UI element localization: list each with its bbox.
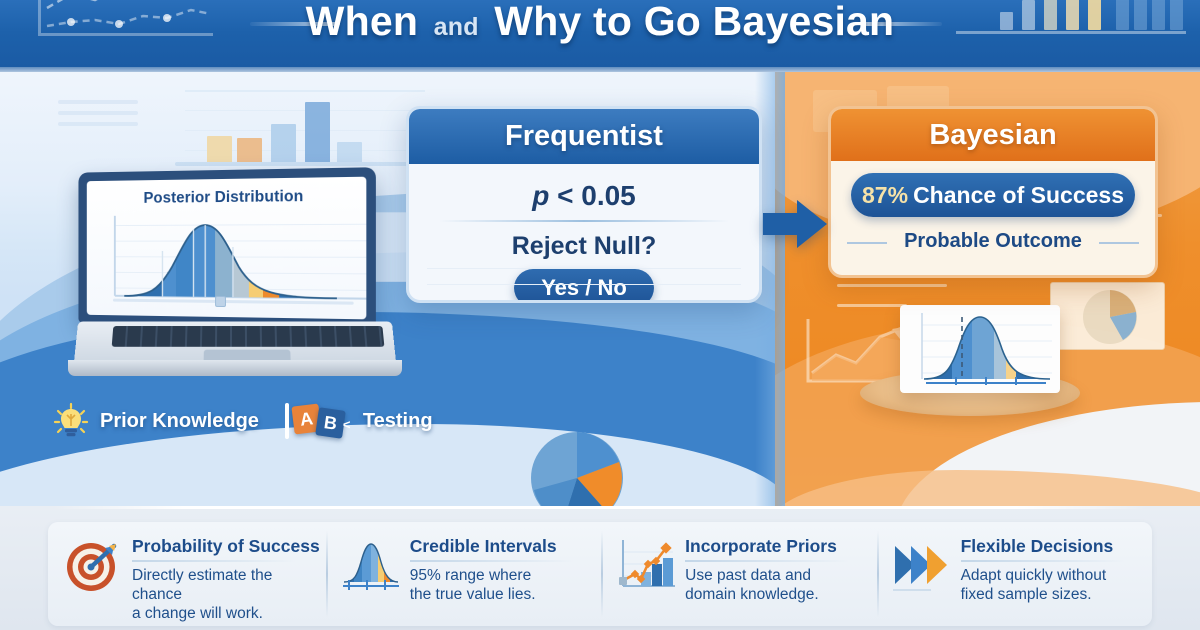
feature-text-4: Flexible Decisions Adapt quickly without… <box>961 532 1126 604</box>
feature-desc-4: Adapt quickly without fixed sample sizes… <box>961 566 1126 604</box>
prior-knowledge-label: Prior Knowledge <box>100 410 259 433</box>
tile-caret: < <box>343 417 351 432</box>
feature-underline-1 <box>132 560 297 562</box>
laptop-base-front <box>68 360 402 376</box>
screen-title: Posterior Distribution <box>87 187 367 208</box>
frequentist-card-body: p < 0.05 Reject Null? Yes / No <box>409 180 759 303</box>
title-conjunction: and <box>430 13 483 41</box>
bayesian-card-header: Bayesian <box>831 109 1155 161</box>
feature-strip: Probability of Success Directly estimate… <box>48 522 1152 626</box>
frequentist-divider <box>439 220 729 222</box>
chart-slider-knob[interactable] <box>215 296 226 307</box>
flow-arrow-right-icon <box>763 196 829 252</box>
feature-underline-4 <box>961 560 1126 562</box>
title-part-1: When <box>306 0 418 44</box>
feature-incorporate-priors[interactable]: Incorporate Priors Use past data and dom… <box>601 522 876 626</box>
feature-title-4: Flexible Decisions <box>961 536 1126 557</box>
feature-probability-of-success[interactable]: Probability of Success Directly estimate… <box>48 522 326 626</box>
probable-outcome-label: Probable Outcome <box>831 230 1155 253</box>
laptop-base <box>62 320 407 382</box>
feature-text-2: Credible Intervals 95% range where the t… <box>410 532 575 604</box>
feature-title-3: Incorporate Priors <box>685 536 850 557</box>
bayesian-card[interactable]: Bayesian 87% Chance of Success Probable … <box>828 106 1158 278</box>
bayesian-bell-curve <box>900 305 1060 393</box>
feature-title-2: Credible Intervals <box>410 536 575 557</box>
chance-percent: 87% <box>862 182 913 209</box>
feature-text-1: Probability of Success Directly estimate… <box>132 532 320 623</box>
frequentist-card-header: Frequentist <box>409 109 759 164</box>
laptop-keyboard-deck <box>74 321 396 364</box>
feature-desc-1: Directly estimate the chance a change wi… <box>132 566 320 623</box>
feature-underline-3 <box>685 560 850 562</box>
document-lines-decoration <box>58 100 138 133</box>
frequentist-card[interactable]: Frequentist p < 0.05 Reject Null? Yes / … <box>406 106 762 303</box>
page-title: When and Why to Go Bayesian <box>0 0 1200 52</box>
bayesian-posterior-card <box>900 305 1060 393</box>
bell-curve-icon <box>340 534 402 596</box>
tile-b: B <box>315 407 346 438</box>
feature-desc-2: 95% range where the true value lies. <box>410 566 575 604</box>
footer-divider <box>52 506 1148 509</box>
chance-of-success-badge[interactable]: 87% Chance of Success <box>851 173 1135 217</box>
orange-text-line-2 <box>837 304 907 307</box>
fast-forward-arrows-icon <box>891 534 953 596</box>
p-symbol: p <box>532 180 549 211</box>
lightbulb-icon <box>52 402 90 440</box>
feature-underline-2 <box>410 560 575 562</box>
bar-line-chart-icon <box>615 534 677 596</box>
orange-pie-card <box>1050 282 1165 350</box>
ab-testing-label: Testing <box>363 410 433 433</box>
title-part-2: Why to Go Bayesian <box>494 0 894 44</box>
feature-title-1: Probability of Success <box>132 536 320 557</box>
laptop-keyboard[interactable] <box>112 326 385 347</box>
p-value-text: p < 0.05 <box>409 180 759 212</box>
header-banner: When and Why to Go Bayesian <box>0 0 1200 72</box>
ab-testing-item: A B < Testing <box>259 403 433 439</box>
infographic-root: When and Why to Go Bayesian <box>0 0 1200 630</box>
laptop-device: Posterior Distribution <box>62 170 407 395</box>
laptop-lid: Posterior Distribution <box>78 167 375 328</box>
posterior-chart <box>100 210 358 311</box>
orange-text-line-1 <box>837 284 947 287</box>
p-threshold: < 0.05 <box>557 180 636 211</box>
target-dart-icon <box>62 534 124 596</box>
chance-label: Chance of Success <box>913 182 1124 209</box>
prior-knowledge-item: Prior Knowledge <box>52 402 259 440</box>
mid-pie-chart <box>527 428 627 506</box>
feature-flexible-decisions[interactable]: Flexible Decisions Adapt quickly without… <box>877 522 1152 626</box>
background-bar-chart <box>185 90 425 172</box>
footer-section: Probability of Success Directly estimate… <box>0 506 1200 630</box>
feature-desc-3: Use past data and domain knowledge. <box>685 566 850 604</box>
ab-test-icon: A B < <box>285 403 347 439</box>
reject-null-question: Reject Null? <box>409 232 759 261</box>
yes-no-button[interactable]: Yes / No <box>514 269 654 303</box>
feature-text-3: Incorporate Priors Use past data and dom… <box>685 532 850 604</box>
blue-label-row: Prior Knowledge A B < Testing <box>52 400 433 442</box>
feature-credible-intervals[interactable]: Credible Intervals 95% range where the t… <box>326 522 601 626</box>
laptop-screen: Posterior Distribution <box>87 177 367 320</box>
